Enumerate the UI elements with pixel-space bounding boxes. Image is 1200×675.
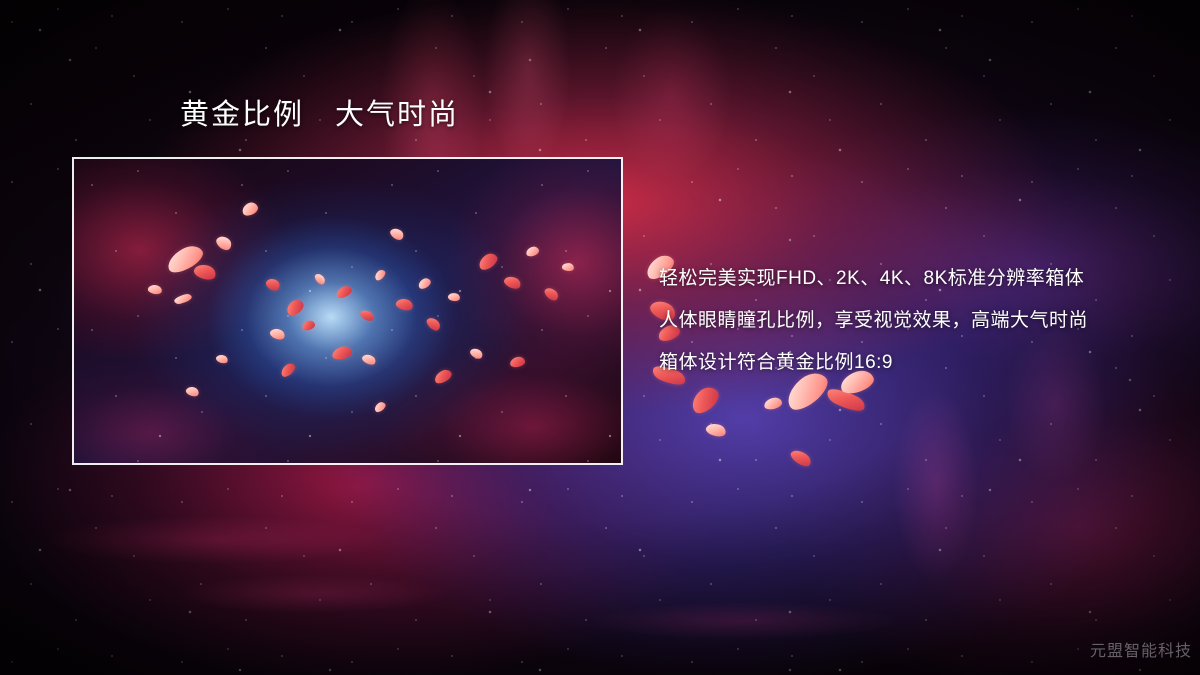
panel-starfield [74, 159, 621, 463]
description-text-block: 轻松完美实现FHD、2K、4K、8K标准分辨率箱体人体眼睛瞳孔比例，享受视觉效果… [659, 258, 1179, 384]
flower-petal [763, 396, 783, 411]
description-line: 人体眼睛瞳孔比例，享受视觉效果，高端大气时尚 [659, 300, 1179, 342]
watermark: 元盟智能科技 [1090, 637, 1192, 661]
description-line: 箱体设计符合黄金比例16:9 [659, 342, 1179, 384]
flower-petal [789, 447, 814, 469]
framed-image-panel [72, 157, 623, 465]
flower-petal [705, 421, 728, 438]
description-line: 轻松完美实现FHD、2K、4K、8K标准分辨率箱体 [659, 258, 1179, 300]
presentation-slide: 黄金比例 大气时尚 轻松完美实现FHD、2K、4K、8K标准分辨率箱体人体眼睛瞳… [0, 0, 1200, 675]
flower-petal [687, 383, 723, 418]
page-title: 黄金比例 大气时尚 [180, 101, 459, 130]
